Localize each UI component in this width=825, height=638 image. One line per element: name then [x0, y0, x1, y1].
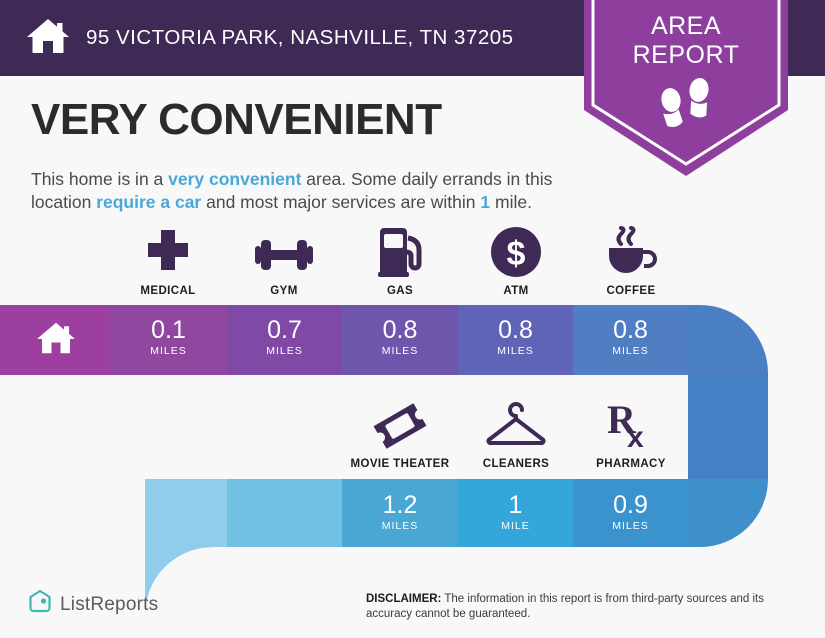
svg-text:$: $ — [507, 235, 526, 273]
coffee-cup-icon — [573, 222, 689, 278]
atm-dollar-icon: $ — [458, 222, 574, 278]
home-icon — [26, 16, 70, 61]
listreports-logo[interactable]: ListReports — [28, 589, 158, 620]
summary-highlight-2: require a car — [96, 192, 201, 212]
summary-part-3: and most major services are within — [201, 192, 480, 212]
medical-cross-icon — [110, 222, 226, 278]
dumbbell-icon — [226, 222, 342, 278]
poi-gym: GYM — [226, 222, 342, 297]
poi-label: ATM — [458, 285, 574, 297]
poi-gas: GAS — [342, 222, 458, 297]
row1-icons: MEDICAL GYM — [0, 222, 825, 302]
property-address: 95 VICTORIA PARK, NASHVILLE, TN 37205 — [86, 26, 514, 50]
summary-highlight-1: very convenient — [168, 169, 301, 189]
poi-coffee: COFFEE — [573, 222, 689, 297]
summary-part-1: This home is in a — [31, 169, 168, 189]
area-report-page: 95 VICTORIA PARK, NASHVILLE, TN 37205 AR… — [0, 0, 825, 638]
summary-text: This home is in a very convenient area. … — [31, 168, 591, 214]
page-title: VERY CONVENIENT — [31, 95, 442, 145]
poi-label: MEDICAL — [110, 285, 226, 297]
summary-part-4: mile. — [490, 192, 532, 212]
poi-medical: MEDICAL — [110, 222, 226, 297]
listreports-brand-text: ListReports — [60, 594, 158, 616]
poi-label: COFFEE — [573, 285, 689, 297]
poi-atm: $ ATM — [458, 222, 574, 297]
gas-pump-icon — [342, 222, 458, 278]
disclaimer-label: DISCLAIMER: — [366, 593, 441, 605]
poi-label: GAS — [342, 285, 458, 297]
area-report-badge: AREA REPORT — [584, 0, 788, 176]
summary-highlight-3: 1 — [480, 192, 490, 212]
disclaimer: DISCLAIMER: The information in this repo… — [366, 592, 811, 622]
listreports-house-icon — [28, 589, 52, 620]
poi-label: GYM — [226, 285, 342, 297]
path-start-home-icon — [36, 320, 76, 361]
